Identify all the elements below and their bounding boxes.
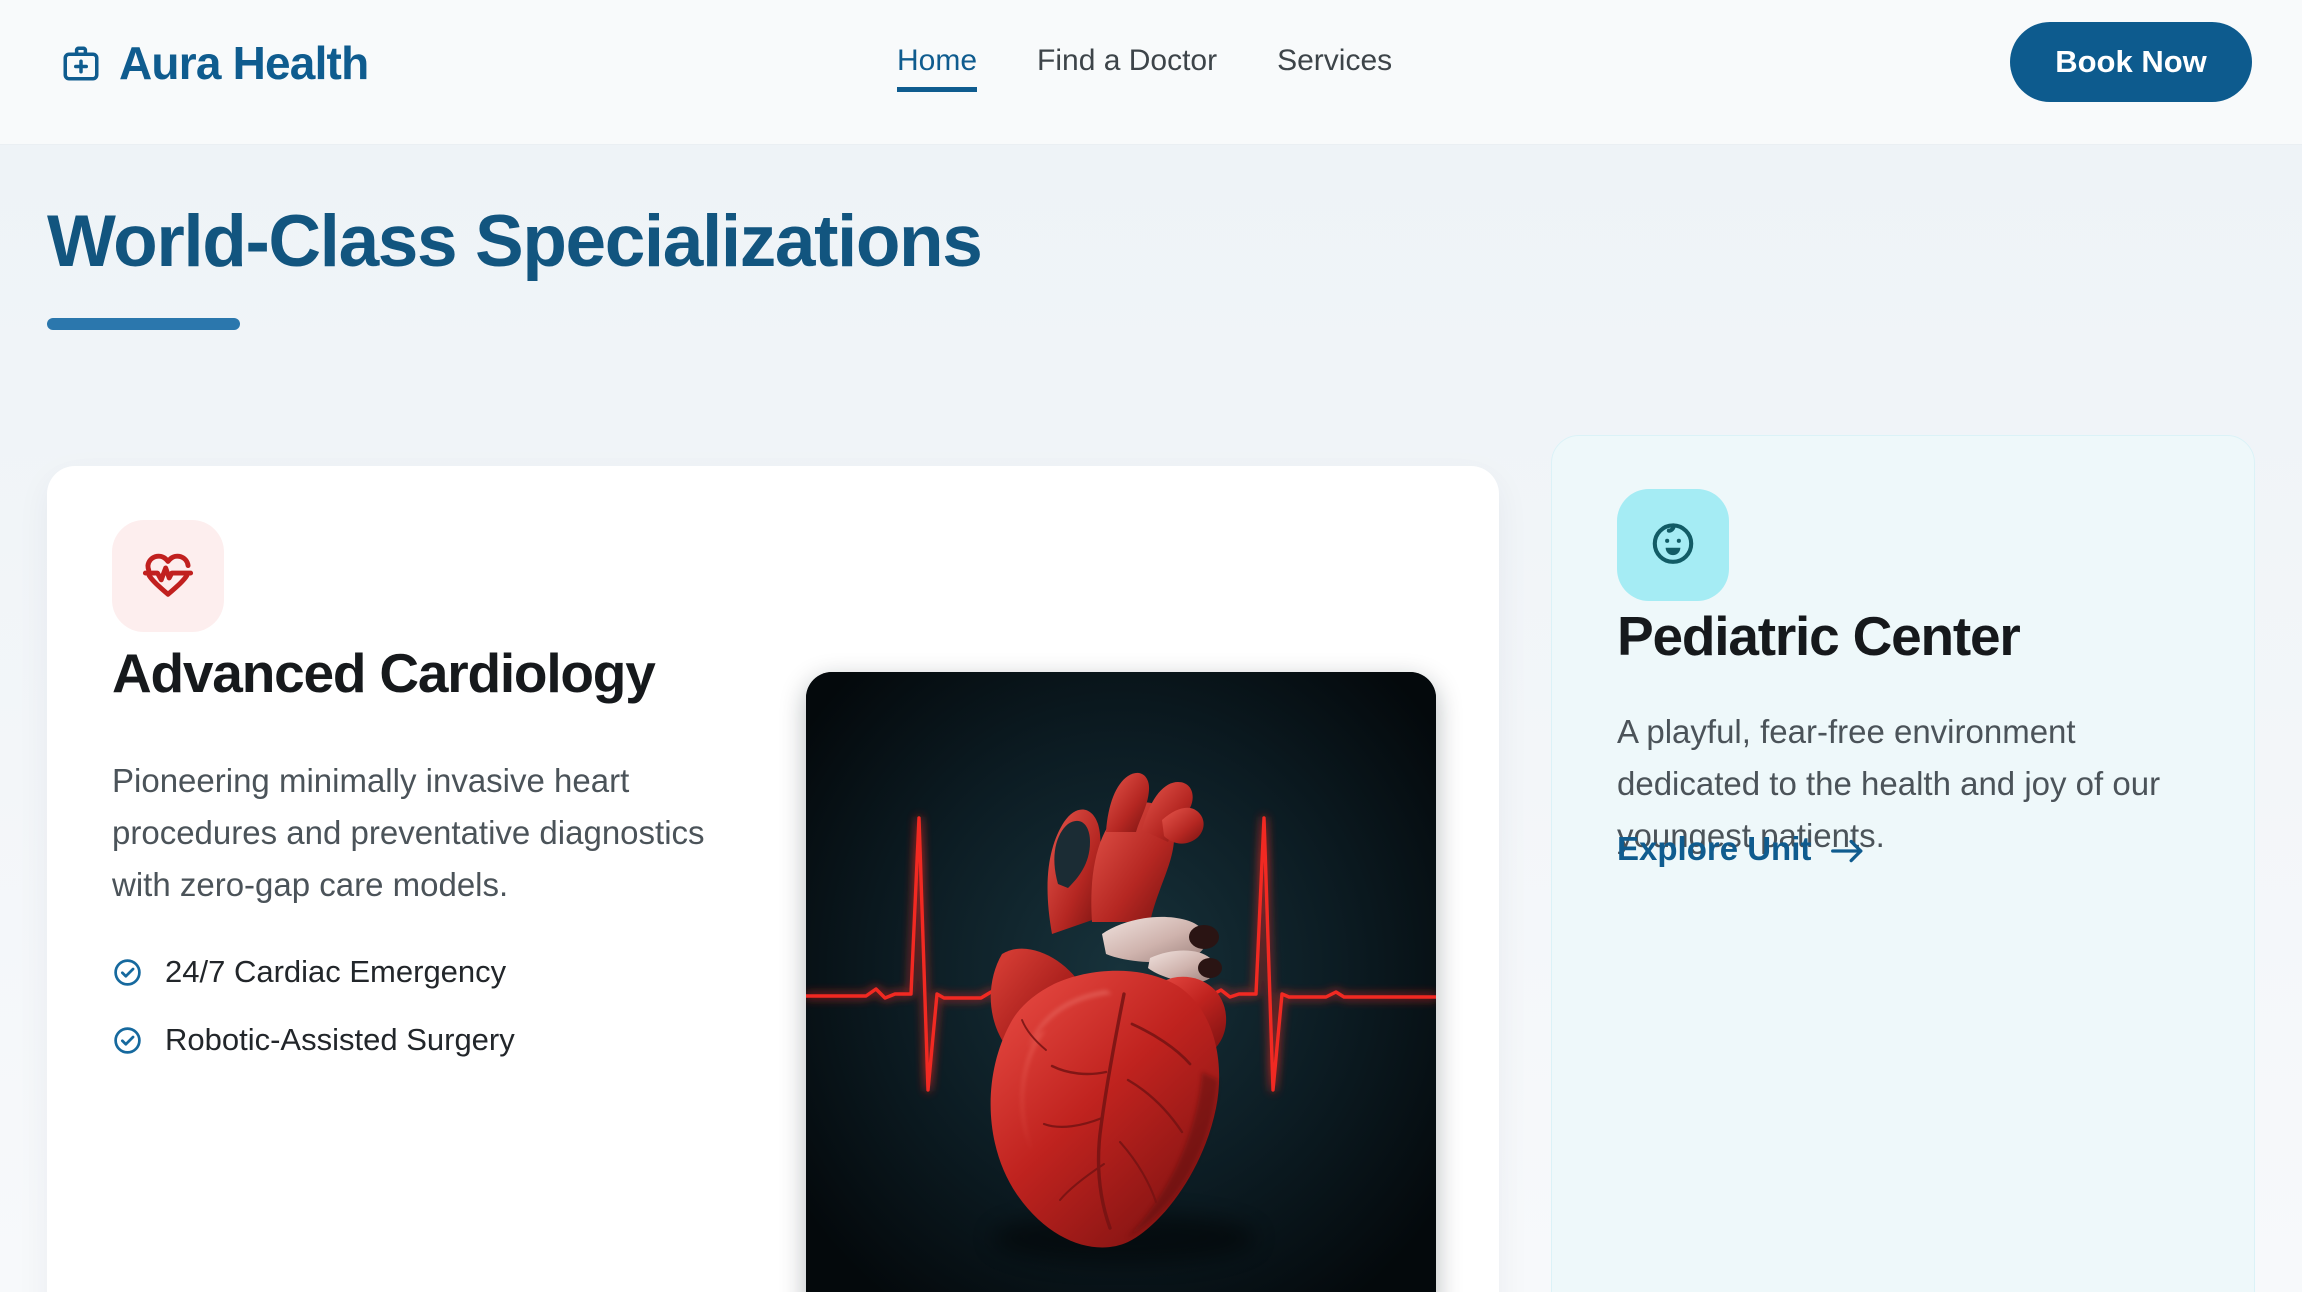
book-now-button[interactable]: Book Now <box>2010 22 2252 102</box>
page-body: World-Class Specializations Advanced Car… <box>0 145 2302 1272</box>
nav-item-home[interactable]: Home <box>897 44 977 92</box>
pediatric-title: Pediatric Center <box>1617 609 2020 664</box>
pediatric-icon-badge <box>1617 489 1729 601</box>
check-circle-icon <box>112 957 143 988</box>
check-circle-icon <box>112 1025 143 1056</box>
feature-item: 24/7 Cardiac Emergency <box>112 954 515 990</box>
explore-unit-link[interactable]: Explore Unit <box>1617 830 1866 868</box>
cardiology-icon-badge <box>112 520 224 632</box>
cardiology-description: Pioneering minimally invasive heart proc… <box>112 755 752 911</box>
heart-pulse-icon <box>140 546 196 607</box>
nav-item-find-a-doctor[interactable]: Find a Doctor <box>1037 44 1217 92</box>
specializations-card-grid: Advanced Cardiology Pioneering minimally… <box>0 145 2302 1272</box>
page-root: Aura Health Home Find a Doctor Services … <box>0 0 2302 1292</box>
baby-face-icon <box>1647 517 1699 574</box>
feature-label: 24/7 Cardiac Emergency <box>165 954 506 990</box>
anatomical-heart-with-ecg-image <box>806 672 1436 1292</box>
feature-item: Robotic-Assisted Surgery <box>112 1022 515 1058</box>
brand-logo[interactable]: Aura Health <box>60 40 368 86</box>
cardiology-title: Advanced Cardiology <box>112 646 655 701</box>
feature-label: Robotic-Assisted Surgery <box>165 1022 515 1058</box>
site-header: Aura Health Home Find a Doctor Services … <box>0 0 2302 145</box>
card-pediatric-center[interactable]: Pediatric Center A playful, fear-free en… <box>1551 435 2255 1292</box>
card-advanced-cardiology[interactable]: Advanced Cardiology Pioneering minimally… <box>47 466 1499 1292</box>
brand-name: Aura Health <box>119 40 368 86</box>
main-nav: Home Find a Doctor Services <box>897 44 1392 92</box>
arrow-right-icon <box>1830 835 1866 863</box>
explore-unit-label: Explore Unit <box>1617 830 1811 868</box>
cardiology-feature-list: 24/7 Cardiac Emergency Robotic-Assisted … <box>112 954 515 1058</box>
nav-item-services[interactable]: Services <box>1277 44 1392 92</box>
medical-briefcase-icon <box>60 42 102 84</box>
